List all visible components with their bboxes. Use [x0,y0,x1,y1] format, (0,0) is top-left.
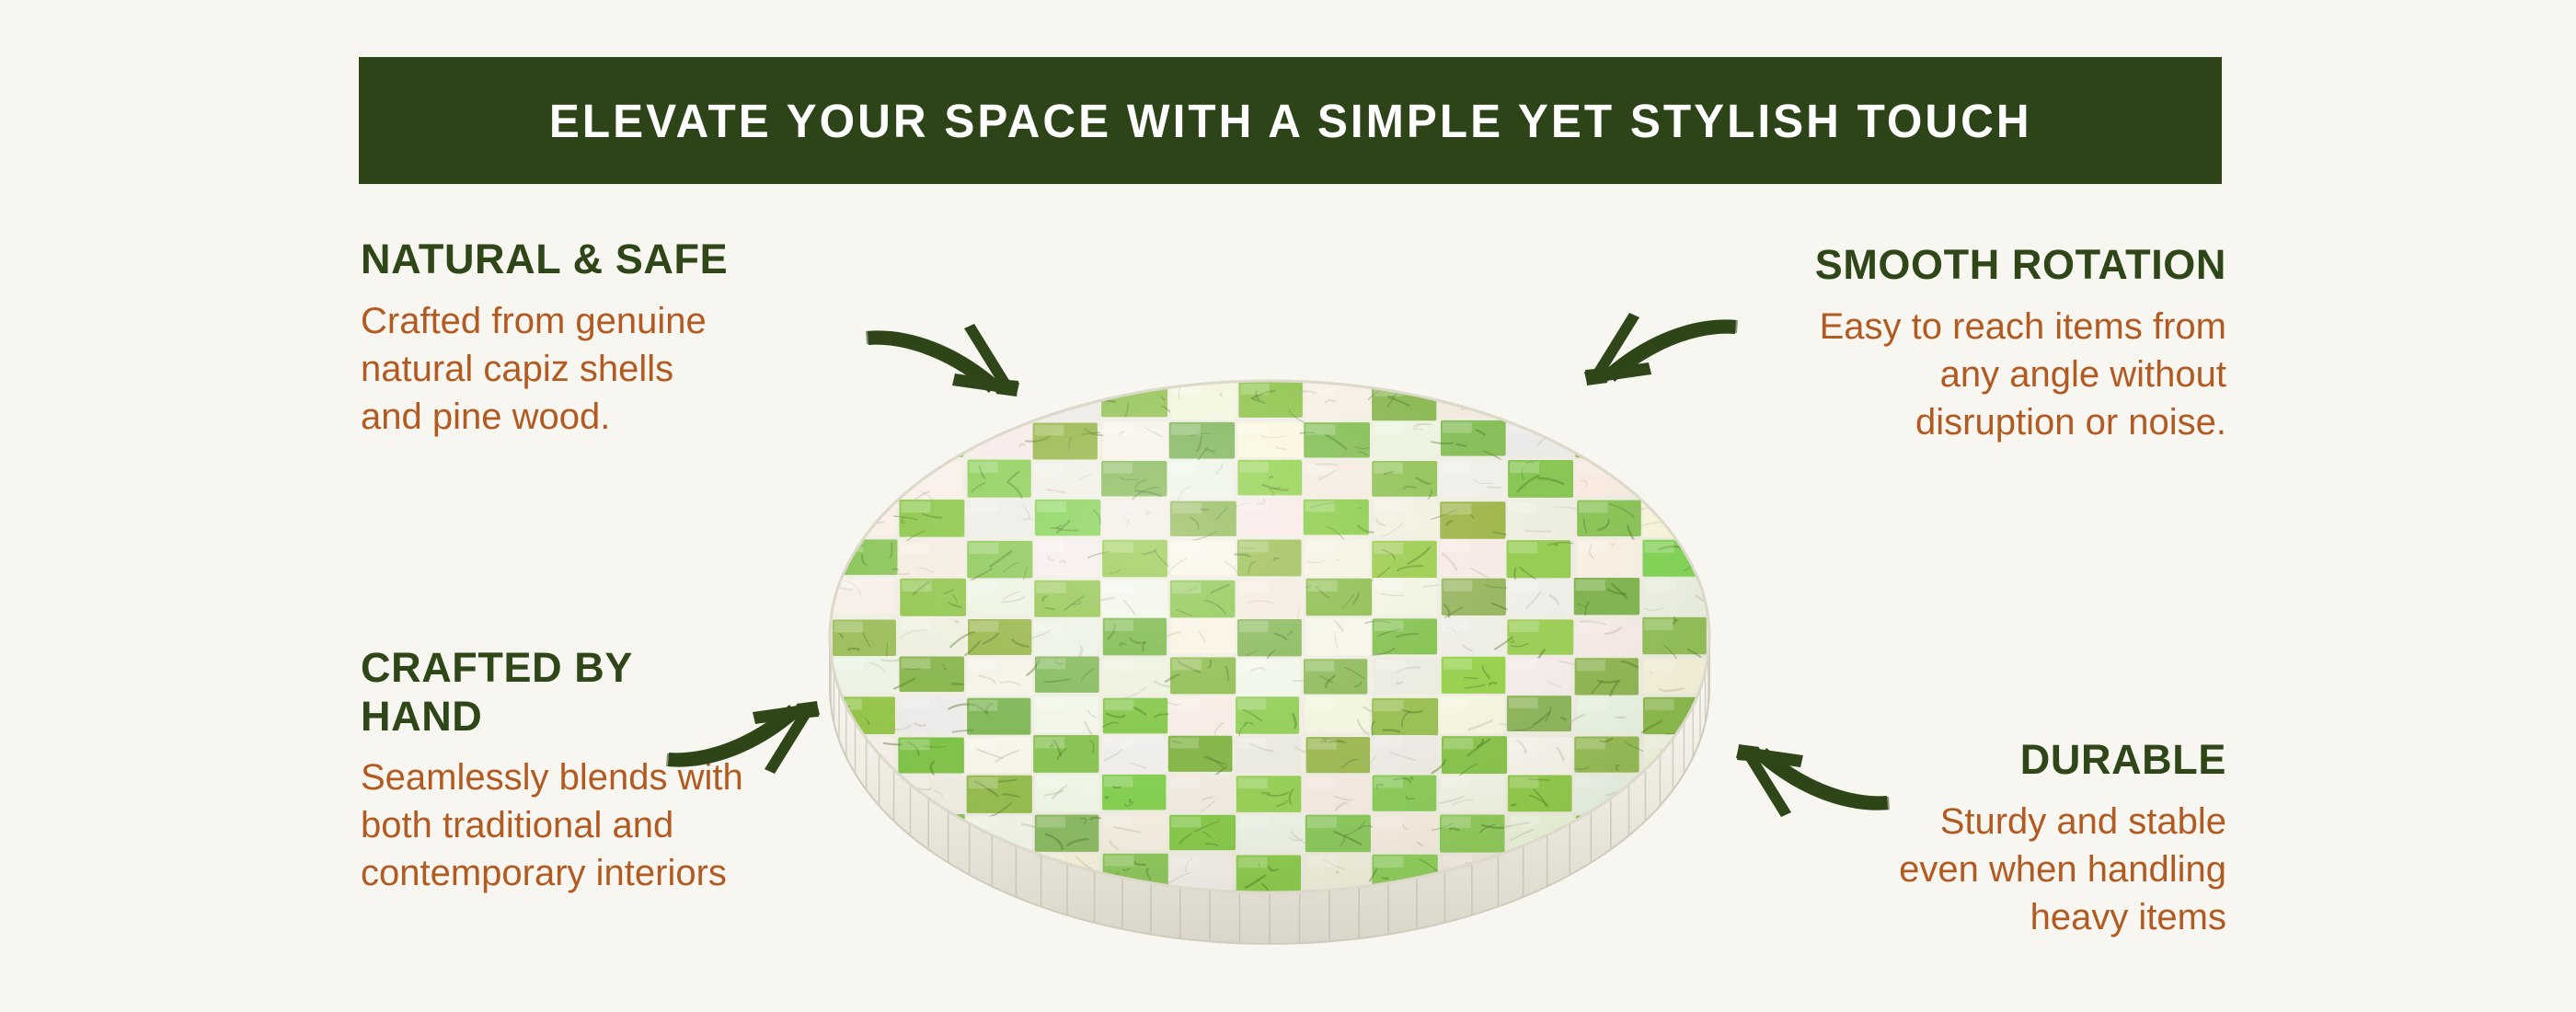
feature-title: NATURAL & SAFE [361,236,931,284]
header-banner: ELEVATE YOUR SPACE WITH A SIMPLE YET STY… [359,57,2222,184]
product-image-lazy-susan [810,361,1730,959]
banner-headline: ELEVATE YOUR SPACE WITH A SIMPLE YET STY… [549,94,2032,148]
feature-title: SMOOTH ROTATION [1656,241,2226,290]
infographic-canvas: ELEVATE YOUR SPACE WITH A SIMPLE YET STY… [0,0,2576,1012]
